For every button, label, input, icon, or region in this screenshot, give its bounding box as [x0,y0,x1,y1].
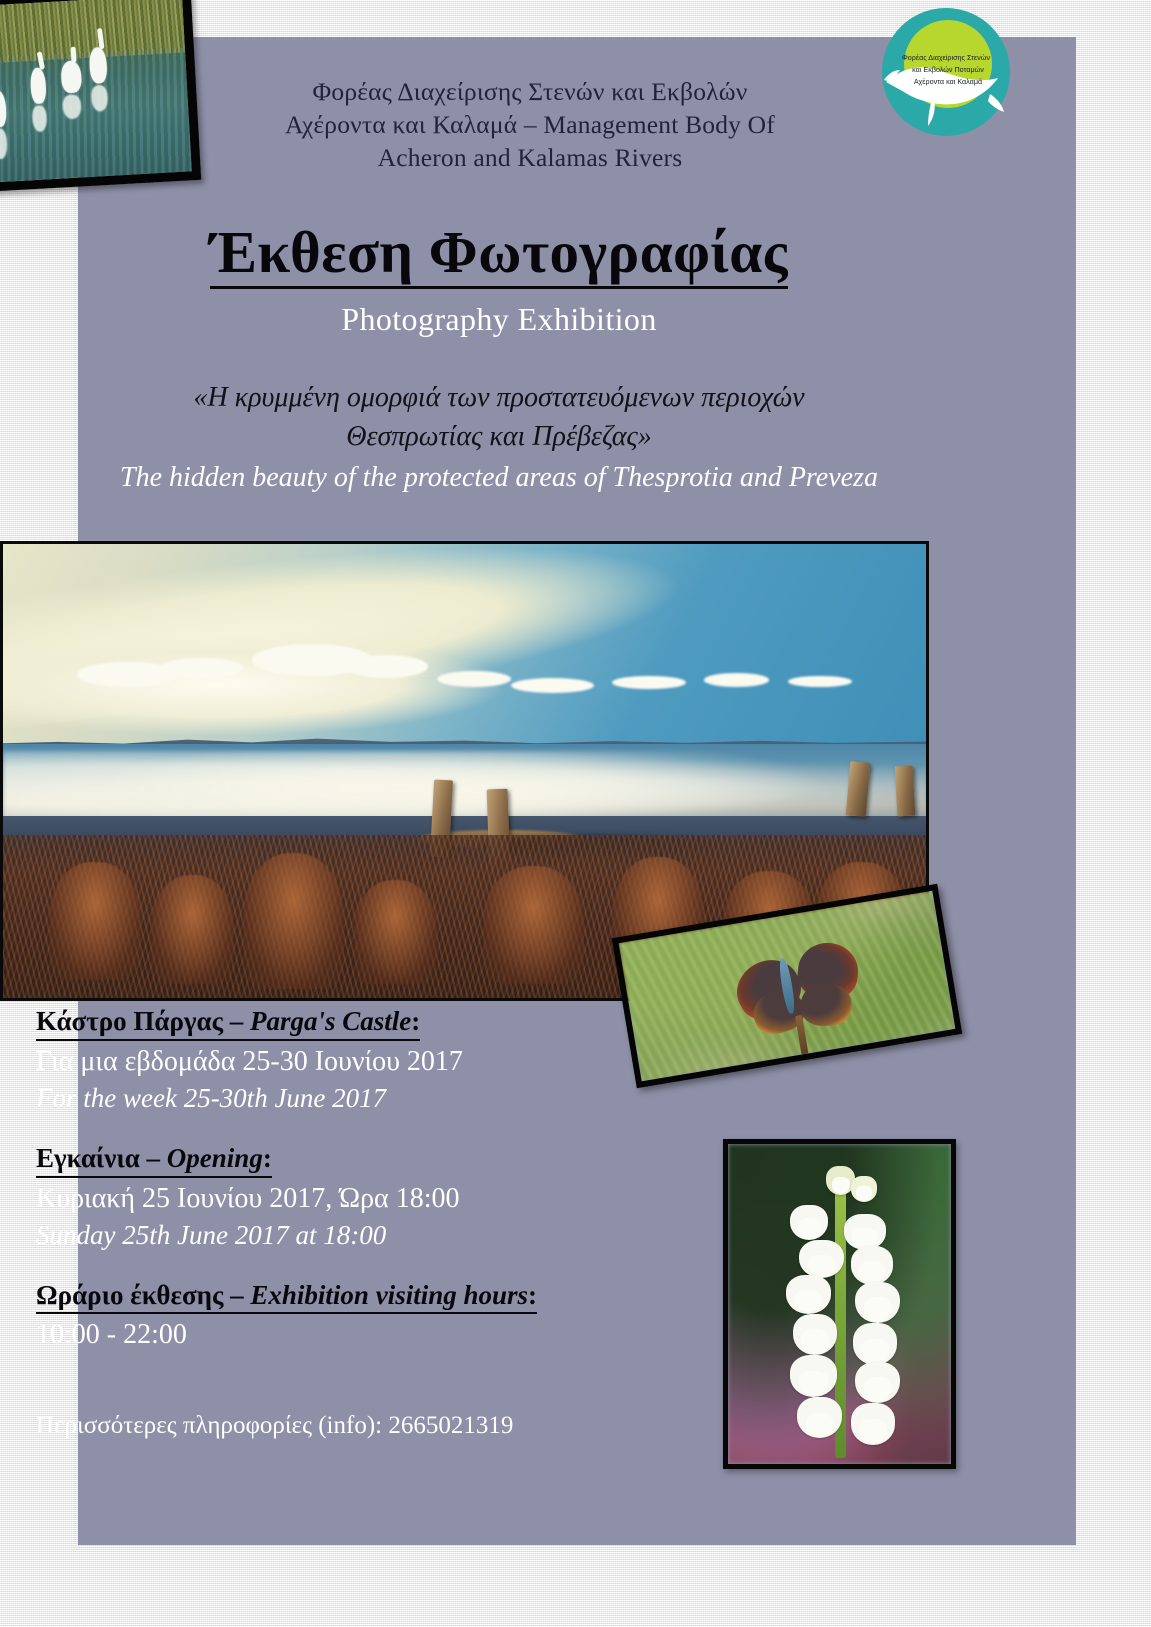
hours-details: Ωράριο έκθεσης – Exhibition visiting hou… [36,1279,676,1355]
venue-heading: Κάστρο Πάργας – Parga's Castle: [36,1005,420,1041]
subtitle-greek-line-2: Θεσπρωτίας και Πρέβεζας» [30,417,968,456]
contact-info: Περισσότερες πληροφορίες (info): 2665021… [36,1412,513,1440]
venue-dates-english: For the week 25-30th June 2017 [36,1081,676,1116]
cloud-puff [160,658,243,679]
orchid-flower [851,1246,893,1284]
orchid-flower [797,1397,842,1439]
marsh-bush [49,862,141,980]
hours-value: 10:00 - 22:00 [36,1317,676,1354]
orchid-flower [855,1362,900,1404]
marsh-bush [354,880,437,984]
organization-title: Φορέας Διαχείρισης Στενών και Εκβολών Αχ… [220,75,840,174]
marsh-bush [243,853,345,989]
title-english: Photography Exhibition [0,301,998,338]
hours-heading-colon: : [528,1280,537,1310]
opening-details: Εγκαίνια – Opening: Κυριακή 25 Ιουνίου 2… [36,1142,676,1253]
orchid-flower [851,1403,896,1445]
organization-logo: Φορέας Διαχείρισης Στενών και Εκβολών Πο… [872,0,1020,146]
orchid-flower [844,1214,886,1249]
logo-text-line2: και Εκβολών Ποταμών [912,65,984,74]
egrets-scene [0,0,192,184]
opening-heading-colon: : [263,1143,272,1173]
wooden-post [895,766,916,817]
hours-heading: Ωράριο έκθεσης – Exhibition visiting hou… [36,1279,537,1315]
orchid-flower [853,1323,898,1365]
opening-heading-english: Opening [167,1143,263,1173]
event-details: Κάστρο Πάργας – Parga's Castle: Για μια … [36,1005,676,1380]
exhibition-title: Έκθεση Φωτογραφίας Photography Exhibitio… [0,222,998,338]
venue-heading-english: Parga's Castle [250,1006,411,1036]
cloud-puff [612,676,686,690]
venue-heading-colon: : [411,1006,420,1036]
hours-heading-english: Exhibition visiting hours [250,1280,528,1310]
opening-date-greek: Κυριακή 25 Ιουνίου 2017, Ώρα 18:00 [36,1181,676,1218]
hours-heading-greek: Ωράριο έκθεσης [36,1280,223,1310]
cloud-band-lower [0,635,501,735]
exhibition-subtitle: «Η κρυμμένη ομορφιά των προστατευόμενων … [30,378,968,494]
venue-heading-greek: Κάστρο Πάργας [36,1006,223,1036]
butterfly-wing-right-lower [800,982,852,1027]
opening-heading-dash: – [140,1143,167,1173]
venue-heading-dash: – [223,1006,250,1036]
subtitle-greek-line-1: «Η κρυμμένη ομορφιά των προστατευόμενων … [30,378,968,417]
opening-heading-greek: Εγκαίνια [36,1143,140,1173]
opening-date-english: Sunday 25th June 2017 at 18:00 [36,1218,676,1253]
orchid-flower [793,1314,838,1356]
org-line-3: Acheron and Kalamas Rivers [220,141,840,174]
venue-dates-greek: Για μια εβδομάδα 25-30 Ιουνίου 2017 [36,1044,676,1081]
org-line-1: Φορέας Διαχείρισης Στενών και Εκβολών [220,75,840,108]
orchid-bud [851,1176,878,1202]
subtitle-english: The hidden beauty of the protected areas… [30,462,968,494]
org-line-2: Αχέροντα και Καλαμά – Management Body Of [220,108,840,141]
opening-heading: Εγκαίνια – Opening: [36,1142,272,1178]
marsh-bush [483,866,585,984]
orchid-flower [786,1275,831,1313]
title-greek: Έκθεση Φωτογραφίας [210,222,788,289]
cloud-puff [345,655,428,678]
egrets-photo [0,0,201,194]
marsh-bush [151,875,234,984]
venue-details: Κάστρο Πάργας – Parga's Castle: Για μια … [36,1005,676,1116]
orchid-flower [855,1282,900,1324]
cloud-puff [704,673,769,687]
hours-heading-dash: – [223,1280,250,1310]
logo-text-line3: Αχέροντα και Καλαμά [914,77,982,86]
orchid-flower [790,1355,837,1397]
logo-text-line1: Φορέας Διαχείρισης Στενών [902,53,990,62]
orchid-photo [723,1139,956,1469]
